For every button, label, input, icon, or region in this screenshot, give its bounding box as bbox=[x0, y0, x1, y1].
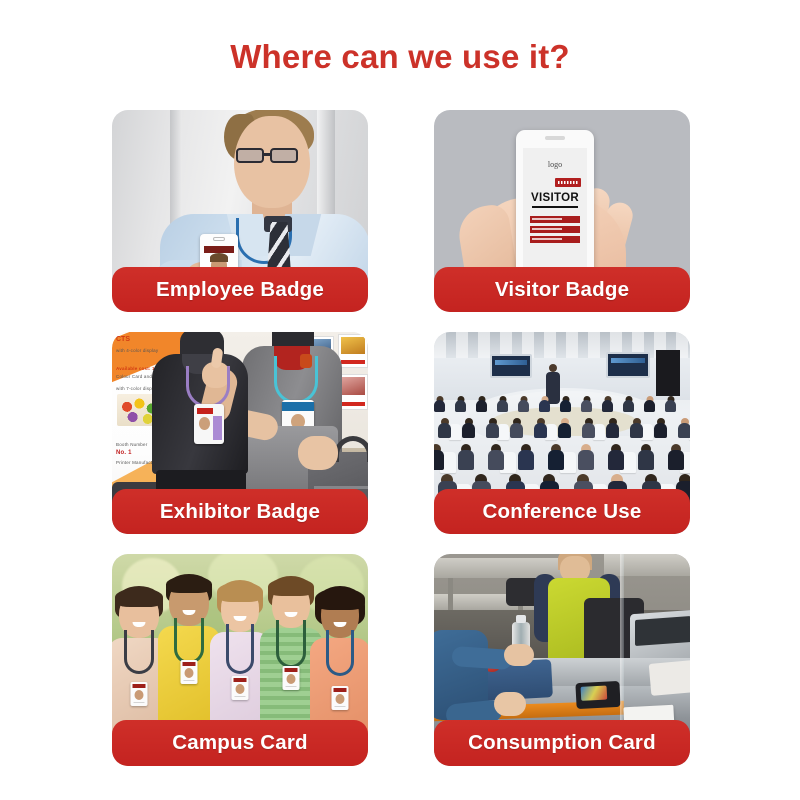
audience-member bbox=[582, 418, 595, 438]
campus-id-badge bbox=[232, 676, 249, 700]
use-case-card-exhibitor-badge[interactable]: CTS with 4-color display Available cost:… bbox=[112, 332, 368, 534]
audience-member bbox=[578, 444, 594, 470]
lanyard bbox=[276, 620, 306, 668]
audience-member bbox=[518, 396, 529, 412]
audience-member bbox=[638, 444, 654, 470]
campus-id-badge bbox=[181, 660, 198, 684]
audience-member bbox=[458, 444, 474, 470]
booth-poster bbox=[338, 334, 368, 368]
child-hair bbox=[268, 578, 314, 596]
badge-number-chip bbox=[555, 178, 581, 187]
badge-logo-text: logo bbox=[523, 160, 587, 169]
badge-title-text: VISITOR bbox=[523, 192, 587, 204]
audience-member bbox=[518, 444, 534, 470]
id-badge bbox=[194, 404, 224, 444]
campus-id-badge bbox=[131, 682, 148, 706]
badge-slot bbox=[545, 136, 565, 140]
use-case-card-employee-badge[interactable]: Employee Badge bbox=[112, 110, 368, 312]
hand bbox=[298, 436, 338, 470]
audience-member bbox=[510, 418, 523, 438]
presentation-screen bbox=[606, 352, 650, 378]
child-hair bbox=[315, 588, 365, 610]
booth-banner-headline: CTS bbox=[116, 336, 130, 343]
presentation-screen bbox=[490, 354, 532, 378]
booth-banner-line: No. 1 bbox=[116, 450, 132, 456]
audience-member bbox=[608, 444, 624, 470]
doorway bbox=[656, 350, 680, 396]
audience-member bbox=[476, 396, 487, 412]
card-label-exhibitor-badge: Exhibitor Badge bbox=[112, 489, 368, 534]
card-label-employee-badge: Employee Badge bbox=[112, 267, 368, 312]
audience-member bbox=[644, 396, 655, 412]
audience-member bbox=[434, 396, 445, 412]
audience-member bbox=[548, 444, 564, 470]
lanyard bbox=[226, 624, 254, 674]
lanyard bbox=[124, 630, 154, 674]
audience-member bbox=[486, 418, 499, 438]
badge-face: logo VISITOR bbox=[523, 148, 587, 274]
booth-banner-line: Booth Number bbox=[116, 442, 147, 447]
campus-id-badge bbox=[332, 686, 349, 710]
audience-member bbox=[602, 396, 613, 412]
lanyard bbox=[186, 366, 230, 408]
badge-info-line bbox=[530, 236, 580, 243]
badge-info-line bbox=[530, 226, 580, 233]
child-hair bbox=[115, 588, 163, 607]
page-title: Where can we use it? bbox=[0, 38, 800, 76]
use-case-card-campus-card[interactable]: Campus Card bbox=[112, 554, 368, 766]
audience-member bbox=[534, 418, 547, 438]
audience-member bbox=[560, 396, 571, 412]
visitor-badge-card: logo VISITOR bbox=[516, 130, 594, 290]
audience-member bbox=[462, 418, 475, 438]
use-case-card-consumption-card[interactable]: Consumption Card bbox=[434, 554, 690, 766]
badge-info-line bbox=[530, 216, 580, 223]
audience-member bbox=[438, 418, 451, 438]
booth-poster bbox=[338, 374, 368, 410]
cafeteria-table bbox=[604, 554, 690, 576]
audience-member bbox=[455, 396, 466, 412]
audience-member bbox=[558, 418, 571, 438]
poster-page: Where can we use it? bbox=[0, 0, 800, 800]
audience-member bbox=[678, 418, 690, 438]
ceiling bbox=[434, 332, 690, 358]
audience-member bbox=[539, 396, 550, 412]
audience-member bbox=[434, 444, 444, 470]
use-case-grid: Employee Badge logo VISITOR bbox=[112, 110, 690, 766]
child-hair bbox=[217, 582, 263, 602]
audience-member bbox=[497, 396, 508, 412]
audience-member bbox=[630, 418, 643, 438]
campus-id-badge bbox=[283, 666, 300, 690]
audience-member bbox=[654, 418, 667, 438]
card-label-conference-use: Conference Use bbox=[434, 489, 690, 534]
eyeglasses bbox=[236, 148, 302, 163]
lanyard bbox=[274, 356, 318, 404]
card-reader bbox=[575, 681, 620, 709]
use-case-card-conference-use[interactable]: Conference Use bbox=[434, 332, 690, 534]
badge-underline bbox=[532, 206, 578, 208]
card-label-consumption-card: Consumption Card bbox=[434, 720, 690, 766]
card-label-visitor-badge: Visitor Badge bbox=[434, 267, 690, 312]
audience-member bbox=[488, 444, 504, 470]
audience-member bbox=[581, 396, 592, 412]
lanyard bbox=[326, 630, 354, 676]
card-label-campus-card: Campus Card bbox=[112, 720, 368, 766]
lanyard bbox=[174, 618, 204, 664]
audience-member bbox=[665, 396, 676, 412]
use-case-card-visitor-badge[interactable]: logo VISITOR Visitor Badge bbox=[434, 110, 690, 312]
napkin-stack bbox=[649, 660, 690, 696]
audience-member bbox=[606, 418, 619, 438]
audience-member bbox=[668, 444, 684, 470]
child-hair bbox=[166, 576, 212, 593]
audience-member bbox=[623, 396, 634, 412]
